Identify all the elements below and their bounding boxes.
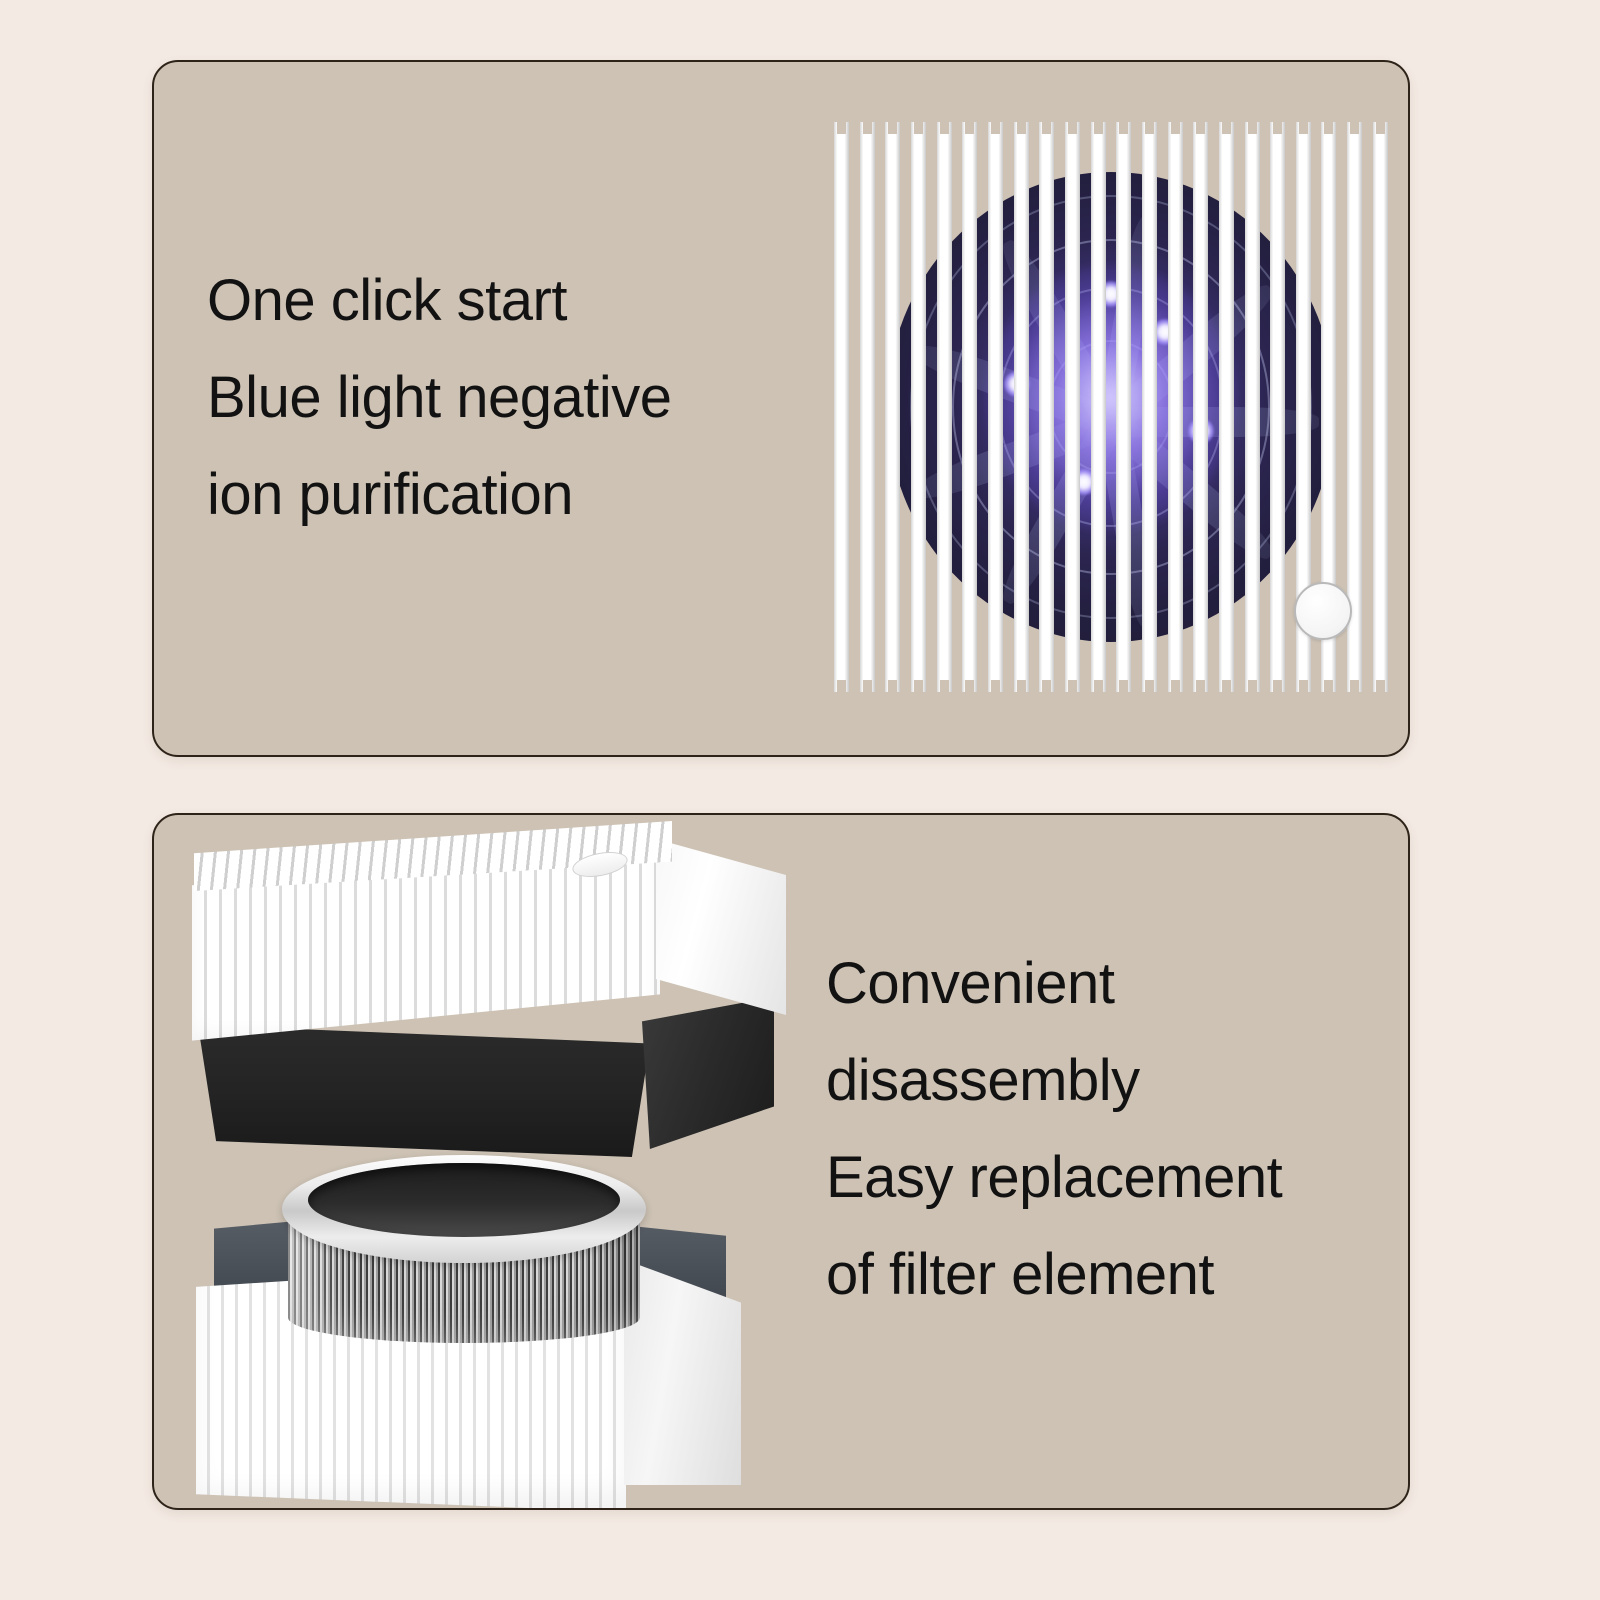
air-purifier-disassembly-image (154, 815, 854, 1510)
headline-filter-replacement: Convenient disassembly Easy replacement … (826, 935, 1282, 1323)
power-button[interactable] (1294, 582, 1352, 640)
cover-black-band-front (198, 1025, 650, 1157)
led-point (1071, 469, 1097, 495)
cover-right-face (656, 823, 786, 1023)
feature-panel-one-click-start: One click start Blue light negative ion … (152, 60, 1410, 757)
headline-line: ion purification (207, 446, 672, 543)
headline-line: Blue light negative (207, 349, 672, 446)
headline-line: disassembly (826, 1032, 1282, 1129)
led-point (1004, 371, 1030, 397)
headline-line: of filter element (826, 1226, 1282, 1323)
air-purifier-grille-image (834, 122, 1388, 692)
led-point (1098, 281, 1124, 307)
headline-line: Easy replacement (826, 1129, 1282, 1226)
fan-circle (887, 172, 1335, 642)
product-feature-collage: One click start Blue light negative ion … (0, 0, 1600, 1600)
led-point (1188, 418, 1214, 444)
headline-one-click-start: One click start Blue light negative ion … (207, 252, 672, 543)
grille-slat (860, 122, 875, 692)
cover-black-band-side (642, 997, 774, 1149)
feature-panel-filter-replacement: Convenient disassembly Easy replacement … (152, 813, 1410, 1510)
headline-line: Convenient (826, 935, 1282, 1032)
led-point (1152, 319, 1178, 345)
headline-line: One click start (207, 252, 672, 349)
grille-slat (834, 122, 849, 692)
purifier-top-cover (172, 815, 792, 1205)
grille-slat (1373, 122, 1388, 692)
